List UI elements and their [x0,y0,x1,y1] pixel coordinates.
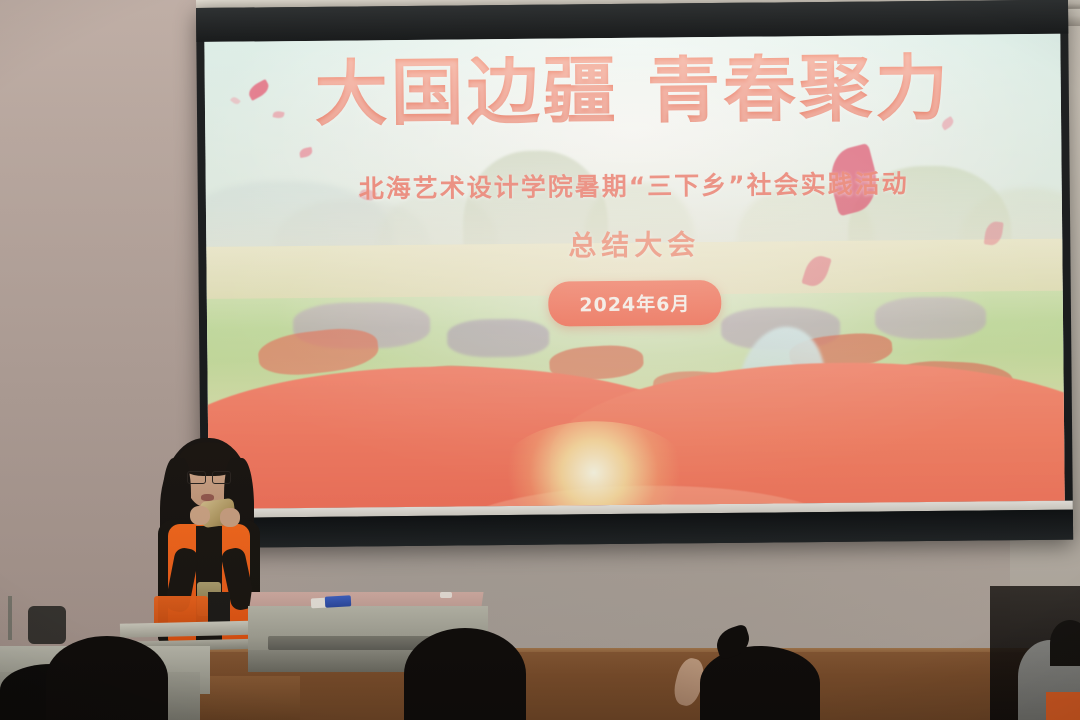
slide-section-title: 总结大会 [206,220,1062,268]
projection-screen: 大国边疆 青春聚力 北海艺术设计学院暑期“三下乡”社会实践活动 总结大会 202… [196,0,1073,548]
slide-main-title: 大国边疆 青春聚力 [204,51,1061,132]
audience-orange-far-right [1046,692,1080,720]
audience-head-left [46,636,168,720]
audience-head-center [404,628,526,720]
audience-head-right [700,646,820,720]
equipment-box-dark [28,606,66,644]
slide-subtitle: 北海艺术设计学院暑期“三下乡”社会实践活动 [206,163,1062,207]
eyeglasses-icon [187,471,231,482]
equipment-rod [8,596,12,640]
slide-text-block: 大国边疆 青春聚力 北海艺术设计学院暑期“三下乡”社会实践活动 总结大会 202… [204,34,1064,509]
slide-surface: 大国边疆 青春聚力 北海艺术设计学院暑期“三下乡”社会实践活动 总结大会 202… [204,34,1064,509]
presenter-hand-right [220,508,240,527]
marker-pen [325,595,352,607]
audience-hair-far-right [1050,620,1080,666]
presenter-hand-left [190,506,210,525]
chalk-piece [440,592,452,598]
photo-scene: 大国边疆 青春聚力 北海艺术设计学院暑期“三下乡”社会实践活动 总结大会 202… [0,0,1080,720]
slide-date-badge: 2024年6月 [548,280,722,327]
